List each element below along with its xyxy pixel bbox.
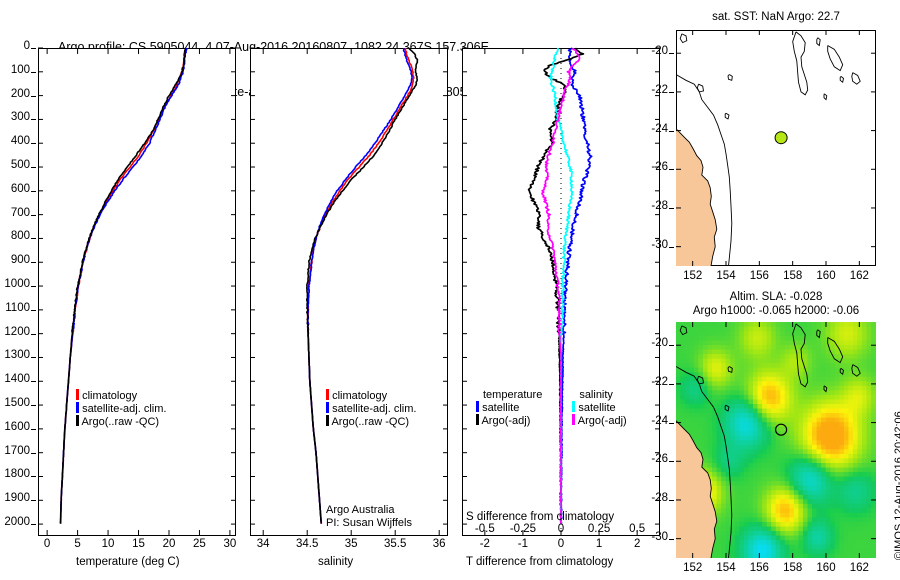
depth-tick-label: 1600	[4, 421, 30, 433]
longitude-tick-label: 158	[783, 270, 802, 282]
difference-legend: temperature satellite Argo(-adj) salinit…	[476, 389, 627, 427]
depth-tick-label: 600	[11, 183, 30, 195]
axis-tick-label: 35.5	[384, 538, 406, 550]
legend-item: satellite-adj. clim.	[76, 402, 166, 415]
axis-tick-label: 35	[345, 538, 358, 550]
depth-tick-label: 2000	[4, 516, 30, 528]
axis-tick-label: -0.5	[475, 523, 495, 535]
temperature-difference-axis-ticks: -2-1012	[462, 538, 660, 554]
depth-tick-mark	[31, 405, 36, 406]
sst-map-title: sat. SST: NaN Argo: 22.7	[676, 11, 876, 23]
legend-swatch-argo	[76, 415, 79, 426]
latitude-tick-mark	[669, 423, 674, 424]
temperature-axis-ticks: 051015202530	[38, 538, 236, 554]
axis-tick-label: -1	[518, 538, 528, 550]
imos-credit: ©IMOS 12-Aug-2016 20:42:06	[893, 411, 900, 560]
depth-tick-label: 1700	[4, 445, 30, 457]
depth-tick-label: 1300	[4, 349, 30, 361]
latitude-tick-label: -24	[651, 415, 668, 427]
legend-item: satellite	[476, 401, 542, 414]
legend-swatch-climatology	[326, 389, 329, 400]
legend-item: climatology	[76, 389, 166, 402]
salinity-axis-label: salinity	[318, 556, 353, 568]
axis-tick-label: 0	[558, 523, 564, 535]
latitude-tick-mark	[669, 247, 674, 248]
depth-tick-mark	[31, 524, 36, 525]
legend-label: Argo(-adj)	[578, 415, 627, 427]
depth-tick-label: 1000	[4, 278, 30, 290]
sst-map-longitude-ticks: 152154156158160162	[676, 268, 876, 284]
longitude-tick-label: 152	[683, 562, 702, 574]
sla-map-title: Altim. SLA: -0.028 Argo h1000: -0.065 h2…	[666, 290, 886, 318]
sla-map-latitude-ticks: -20-22-24-26-28-30	[640, 322, 674, 558]
sst-map-latitude-ticks: -20-22-24-26-28-30	[640, 30, 674, 266]
depth-tick-label: 200	[11, 88, 30, 100]
axis-tick-label: -2	[480, 538, 490, 550]
axis-tick-label: 34	[257, 538, 270, 550]
axis-tick-label: 10	[102, 538, 115, 550]
depth-tick-label: 500	[11, 159, 30, 171]
temperature-plot-canvas	[38, 48, 236, 536]
longitude-tick-label: 160	[816, 270, 835, 282]
latitude-tick-label: -28	[651, 492, 668, 504]
depth-tick-label: 1200	[4, 326, 30, 338]
legend-item: Argo(-adj)	[572, 414, 626, 427]
legend-label: satellite	[578, 402, 615, 414]
depth-tick-label: 1500	[4, 397, 30, 409]
latitude-tick-mark	[669, 53, 674, 54]
latitude-tick-mark	[669, 345, 674, 346]
legend-swatch-temperature-satellite	[476, 401, 479, 412]
depth-tick-mark	[31, 48, 36, 49]
depth-tick-label: 1400	[4, 373, 30, 385]
depth-tick-mark	[31, 215, 36, 216]
difference-plot-canvas	[462, 48, 660, 536]
salinity-legend: climatology satellite-adj. clim. Argo(..…	[326, 389, 416, 428]
legend-label: Argo(..raw -QC)	[81, 416, 159, 428]
legend-column-temperature: temperature satellite Argo(-adj)	[476, 389, 542, 427]
axis-tick-label: 20	[163, 538, 176, 550]
sst-map-canvas	[676, 30, 876, 266]
salinity-axis-ticks: 3434.53535.536	[250, 538, 448, 554]
latitude-tick-label: -26	[651, 161, 668, 173]
legend-item: climatology	[326, 389, 416, 402]
axis-tick-label: 30	[224, 538, 237, 550]
salinity-difference-axis-ticks: -0.5-0.2500.250.5	[462, 523, 660, 537]
legend-swatch-satellite-adj	[76, 402, 79, 413]
depth-tick-label: 700	[11, 207, 30, 219]
axis-tick-label: 25	[193, 538, 206, 550]
axis-tick-label: 0	[44, 538, 50, 550]
longitude-tick-label: 152	[683, 270, 702, 282]
depth-tick-mark	[31, 72, 36, 73]
latitude-tick-mark	[669, 384, 674, 385]
axis-tick-label: 34.5	[296, 538, 318, 550]
sla-title-line-2: Argo h1000: -0.065 h2000: -0.06	[666, 304, 886, 318]
temperature-difference-axis-label: T difference from climatology	[466, 556, 613, 568]
salinity-difference-axis-label: S difference from climatology	[466, 511, 614, 523]
depth-tick-label: 1800	[4, 468, 30, 480]
axis-tick-label: 0.25	[588, 523, 610, 535]
depth-tick-mark	[31, 262, 36, 263]
legend-item: Argo(..raw -QC)	[326, 415, 416, 428]
legend-swatch-temperature-argo-adj	[476, 414, 479, 425]
legend-item: Argo(..raw -QC)	[76, 415, 166, 428]
longitude-tick-label: 160	[816, 562, 835, 574]
latitude-tick-mark	[669, 461, 674, 462]
legend-label: Argo(-adj)	[481, 415, 530, 427]
latitude-tick-label: -24	[651, 123, 668, 135]
depth-tick-label: 400	[11, 135, 30, 147]
depth-tick-mark	[31, 96, 36, 97]
axis-tick-label: 0	[558, 538, 564, 550]
depth-tick-mark	[31, 381, 36, 382]
temperature-legend: climatology satellite-adj. clim. Argo(..…	[76, 389, 166, 428]
legend-column-header: salinity	[572, 389, 626, 401]
depth-tick-mark	[31, 500, 36, 501]
depth-tick-label: 0	[24, 40, 30, 52]
legend-item: satellite	[572, 401, 626, 414]
depth-axis-ticks-left: 0100200300400500600700800900100011001200…	[0, 48, 36, 536]
depth-tick-label: 900	[11, 254, 30, 266]
depth-tick-mark	[31, 119, 36, 120]
depth-tick-mark	[31, 167, 36, 168]
axis-tick-label: 15	[132, 538, 145, 550]
salinity-annotation: Argo Australia PI: Susan Wijffels	[326, 504, 412, 530]
depth-tick-mark	[31, 143, 36, 144]
longitude-tick-label: 156	[750, 270, 769, 282]
legend-label: satellite-adj. clim.	[332, 403, 416, 415]
depth-tick-mark	[31, 357, 36, 358]
latitude-tick-label: -30	[651, 239, 668, 251]
legend-swatch-salinity-satellite	[572, 401, 575, 412]
depth-tick-label: 1900	[4, 492, 30, 504]
temperature-axis-label: temperature (deg C)	[76, 556, 180, 568]
longitude-tick-label: 154	[716, 562, 735, 574]
longitude-tick-label: 158	[783, 562, 802, 574]
depth-tick-label: 800	[11, 230, 30, 242]
legend-column-header: temperature	[476, 389, 542, 401]
depth-tick-mark	[31, 286, 36, 287]
salinity-plot-canvas	[250, 48, 448, 536]
sla-title-line-1: Altim. SLA: -0.028	[666, 290, 886, 304]
latitude-tick-mark	[669, 92, 674, 93]
legend-swatch-climatology	[76, 389, 79, 400]
legend-swatch-satellite-adj	[326, 402, 329, 413]
latitude-tick-mark	[669, 169, 674, 170]
latitude-tick-label: -26	[651, 453, 668, 465]
latitude-tick-label: -22	[651, 376, 668, 388]
depth-tick-mark	[31, 334, 36, 335]
legend-label: satellite-adj. clim.	[82, 403, 166, 415]
sla-map-longitude-ticks: 152154156158160162	[676, 560, 876, 576]
annotation-line-1: Argo Australia	[326, 504, 412, 517]
longitude-tick-label: 154	[716, 270, 735, 282]
latitude-tick-mark	[669, 208, 674, 209]
depth-tick-mark	[31, 191, 36, 192]
axis-tick-label: 1	[596, 538, 602, 550]
depth-tick-label: 300	[11, 111, 30, 123]
legend-item: satellite-adj. clim.	[326, 402, 416, 415]
depth-tick-label: 100	[11, 64, 30, 76]
latitude-tick-label: -20	[651, 337, 668, 349]
legend-swatch-argo	[326, 415, 329, 426]
axis-tick-label: 5	[74, 538, 80, 550]
legend-item: Argo(-adj)	[476, 414, 542, 427]
depth-tick-label: 1100	[5, 302, 30, 314]
legend-swatch-salinity-argo-adj	[572, 414, 575, 425]
depth-tick-mark	[31, 476, 36, 477]
legend-column-salinity: salinity satellite Argo(-adj)	[572, 389, 626, 427]
depth-tick-mark	[31, 429, 36, 430]
depth-tick-mark	[31, 238, 36, 239]
longitude-tick-label: 162	[850, 270, 869, 282]
sla-map-canvas	[676, 322, 876, 558]
longitude-tick-label: 162	[850, 562, 869, 574]
latitude-tick-label: -22	[651, 84, 668, 96]
latitude-tick-label: -28	[651, 200, 668, 212]
annotation-line-2: PI: Susan Wijffels	[326, 517, 412, 530]
latitude-tick-label: -30	[651, 531, 668, 543]
depth-tick-mark	[31, 310, 36, 311]
latitude-tick-mark	[669, 131, 674, 132]
depth-tick-mark	[31, 453, 36, 454]
latitude-tick-mark	[669, 539, 674, 540]
axis-tick-label: 36	[433, 538, 446, 550]
latitude-tick-mark	[669, 500, 674, 501]
latitude-tick-label: -20	[651, 45, 668, 57]
legend-label: satellite	[482, 402, 519, 414]
axis-tick-label: -0.25	[510, 523, 536, 535]
longitude-tick-label: 156	[750, 562, 769, 574]
legend-label: climatology	[332, 390, 387, 402]
legend-label: Argo(..raw -QC)	[331, 416, 409, 428]
legend-label: climatology	[82, 390, 137, 402]
